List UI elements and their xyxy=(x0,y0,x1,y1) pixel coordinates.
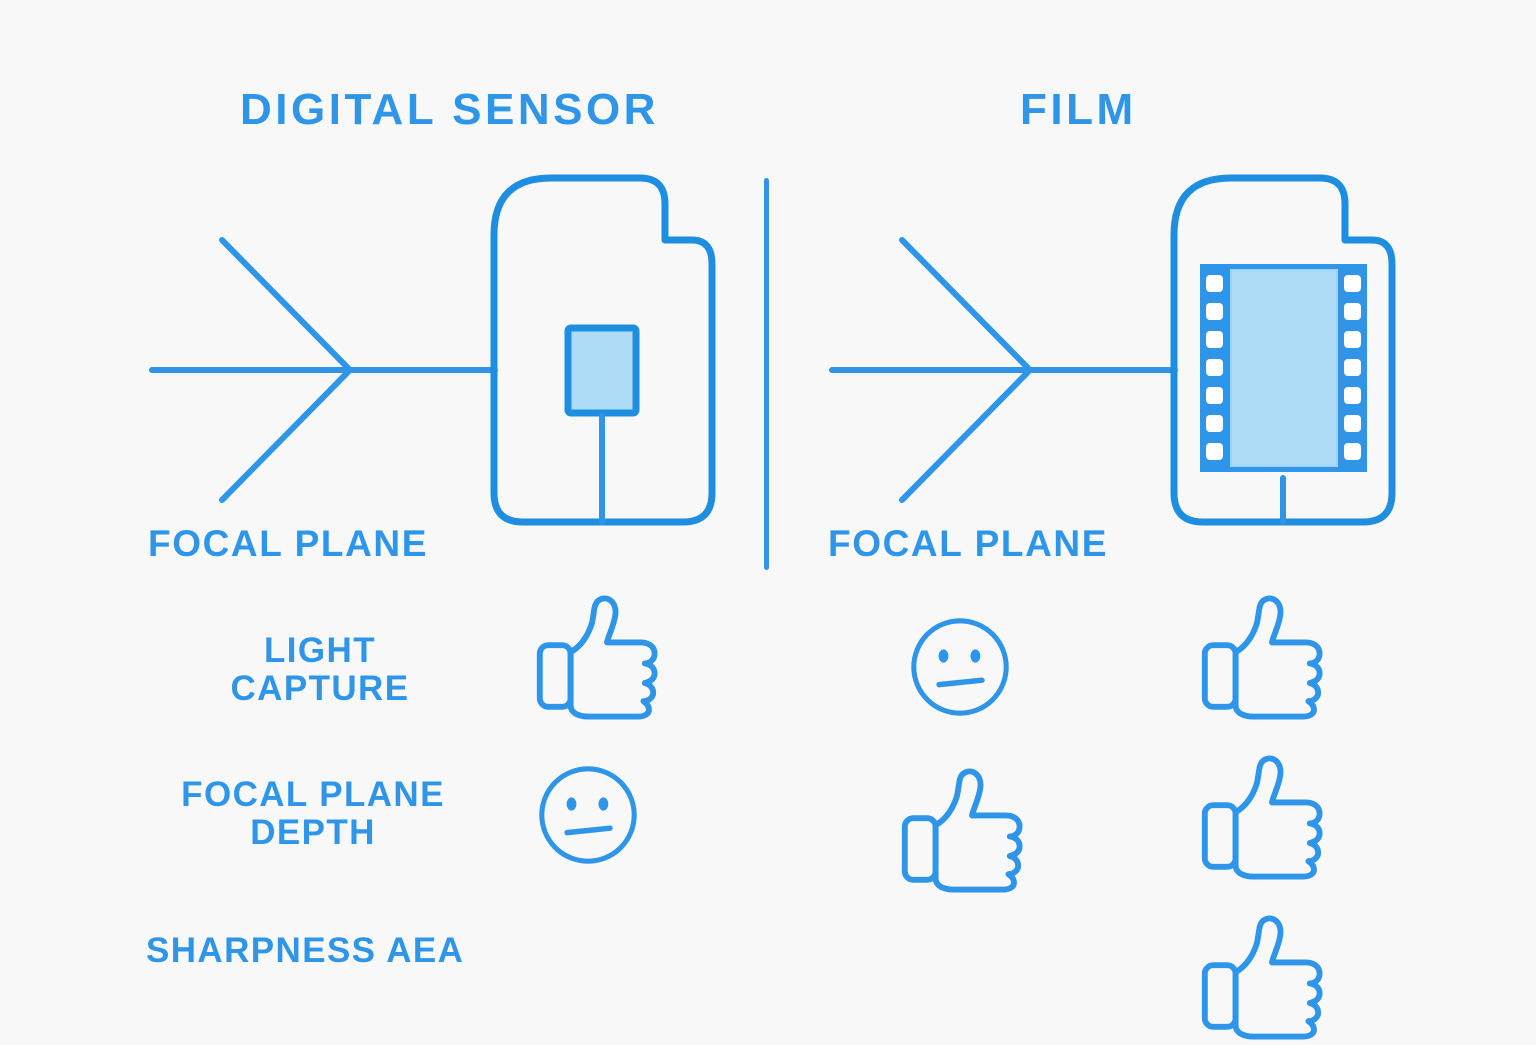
focal-plane-label-right: FOCAL PLANE xyxy=(828,524,1108,564)
focal-plane-label-left: FOCAL PLANE xyxy=(148,524,428,564)
light-ray-arrow-icon xyxy=(832,240,1175,500)
column-divider xyxy=(764,178,769,570)
rating-thumbs-up-sharpness-film-extra xyxy=(1195,905,1335,1045)
film-diagram xyxy=(820,160,1400,540)
column-title-film: FILM xyxy=(1020,88,1137,132)
rating-neutral-face-focal-depth-digital xyxy=(533,760,643,870)
digital-sensor-icon xyxy=(568,328,636,413)
metric-label-light-capture: LIGHT CAPTURE xyxy=(160,632,480,708)
metric-label-focal-plane-depth: FOCAL PLANE DEPTH xyxy=(148,776,478,852)
rating-neutral-face-light-capture-film xyxy=(905,612,1015,722)
rating-thumbs-up-focal-depth-film xyxy=(895,758,1035,898)
column-title-digital-sensor: DIGITAL SENSOR xyxy=(240,88,659,132)
film-strip-icon xyxy=(1200,264,1367,472)
rating-thumbs-up-light-capture-digital xyxy=(530,585,670,725)
infographic-canvas: DIGITAL SENSOR FILM xyxy=(0,0,1536,1024)
light-ray-arrow-icon xyxy=(152,240,495,500)
digital-sensor-diagram xyxy=(140,160,720,540)
rating-thumbs-up-focal-depth-film-extra xyxy=(1195,745,1335,885)
metric-label-sharpness: SHARPNESS AEA xyxy=(146,932,566,970)
rating-thumbs-up-light-capture-film-extra xyxy=(1195,585,1335,725)
